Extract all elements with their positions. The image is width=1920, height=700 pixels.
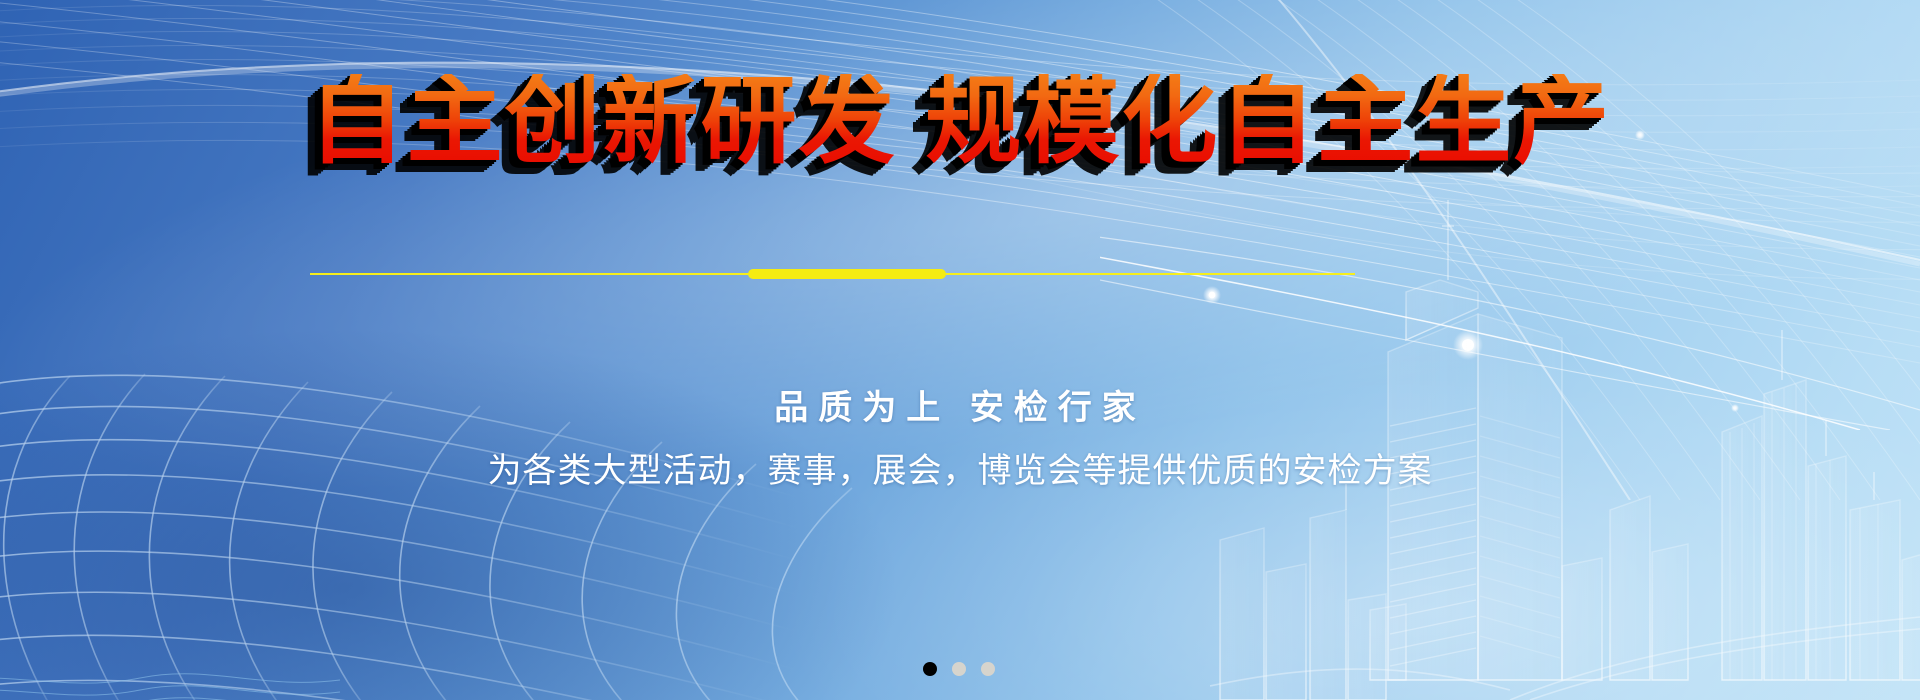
hero-banner: 自主创新研发 规模化自主生产 品质为上 安检行家 为各类大型活动，赛事，展会，博… <box>0 0 1920 700</box>
divider <box>0 268 1920 280</box>
banner-subtitle-secondary: 为各类大型活动，赛事，展会，博览会等提供优质的安检方案 <box>0 450 1920 493</box>
divider-rule-accent <box>748 269 946 279</box>
carousel-dot-1[interactable] <box>923 662 937 676</box>
carousel-dot-2[interactable] <box>952 662 966 676</box>
banner-subtitle-primary: 品质为上 安检行家 <box>0 388 1920 429</box>
carousel-dot-3[interactable] <box>981 662 995 676</box>
banner-headline: 自主创新研发 规模化自主生产 <box>0 74 1920 170</box>
banner-content: 自主创新研发 规模化自主生产 品质为上 安检行家 为各类大型活动，赛事，展会，博… <box>0 0 1920 700</box>
carousel-pagination[interactable] <box>0 662 1920 676</box>
